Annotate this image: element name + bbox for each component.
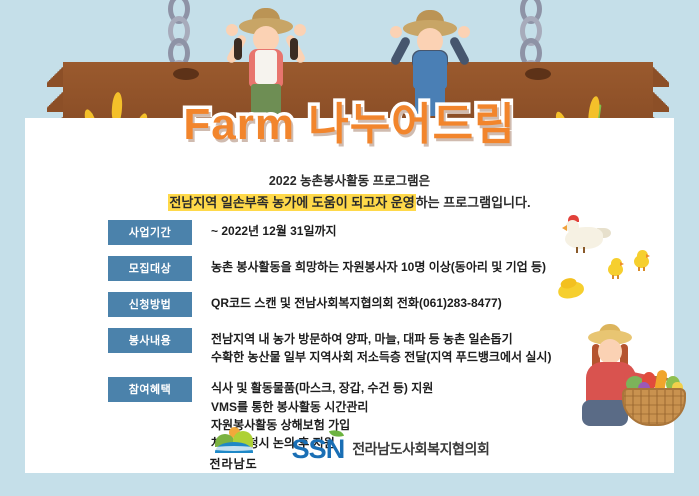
intro-highlight: 전남지역 일손부족 농가에 도움이 되고자 운영 bbox=[168, 194, 415, 211]
chick-illustration bbox=[608, 258, 624, 278]
vegetable-basket-icon bbox=[622, 388, 686, 426]
row-label-activity: 봉사내용 bbox=[108, 328, 192, 353]
chick-illustration bbox=[634, 250, 650, 270]
farmer-woman-illustration bbox=[576, 330, 686, 438]
poster-root: Farm 나누어드림 2022 농촌봉사활동 프로그램은 전남지역 일손부족 농… bbox=[0, 0, 699, 496]
header-banner: Farm 나누어드림 bbox=[0, 0, 699, 165]
row-label-target: 모집대상 bbox=[108, 256, 192, 281]
intro-line-2: 전남지역 일손부족 농가에 도움이 되고자 운영하는 프로그램입니다. bbox=[25, 193, 674, 213]
intro-rest: 하는 프로그램입니다. bbox=[416, 195, 531, 210]
ssn-logo: SSN 전라남도사회복지협의회 bbox=[292, 436, 490, 463]
jeonnam-mark-icon bbox=[215, 427, 253, 453]
hen-illustration bbox=[565, 218, 607, 252]
intro-line-1: 2022 농촌봉사활동 프로그램은 bbox=[25, 172, 674, 191]
info-row-target: 모집대상 농촌 봉사활동을 희망하는 자원봉사자 10명 이상(동아리 및 기업… bbox=[108, 256, 628, 281]
leaf-icon bbox=[329, 427, 344, 440]
info-row-apply: 신청방법 QR코드 스캔 및 전남사회복지협의회 전화(061)283-8477… bbox=[108, 292, 628, 317]
ssn-logo-mark: SSN bbox=[292, 436, 345, 463]
sign-hole-right-icon bbox=[525, 68, 551, 80]
jeonnam-logo-text: 전라남도 bbox=[210, 455, 258, 472]
row-value-target: 농촌 봉사활동을 희망하는 자원봉사자 10명 이상(동아리 및 기업 등) bbox=[192, 256, 628, 276]
jeonnam-logo: 전라남도 bbox=[210, 427, 258, 472]
intro-text: 2022 농촌봉사활동 프로그램은 전남지역 일손부족 농가에 도움이 되고자 … bbox=[25, 172, 674, 214]
info-row-period: 사업기간 ~ 2022년 12월 31일까지 bbox=[108, 220, 628, 245]
row-label-benefits: 참여혜택 bbox=[108, 377, 192, 402]
sign-hole-left-icon bbox=[173, 68, 199, 80]
ssn-logo-text: 전라남도사회복지협의회 bbox=[352, 439, 489, 459]
row-label-apply: 신청방법 bbox=[108, 292, 192, 317]
row-label-period: 사업기간 bbox=[108, 220, 192, 245]
row-value-activity: 전남지역 내 농가 방문하여 양파, 마늘, 대파 등 농촌 일손돕기 수확한 … bbox=[192, 328, 628, 366]
info-row-activity: 봉사내용 전남지역 내 농가 방문하여 양파, 마늘, 대파 등 농촌 일손돕기… bbox=[108, 328, 628, 366]
poster-title: Farm 나누어드림 bbox=[0, 88, 699, 152]
